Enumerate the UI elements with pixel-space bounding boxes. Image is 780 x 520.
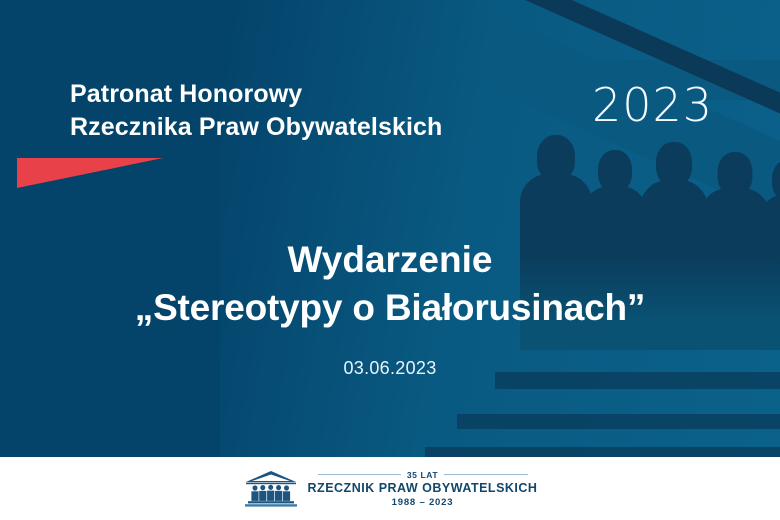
patronage-line-2: Rzecznika Praw Obywatelskich — [70, 111, 590, 144]
year-label: 2023 — [592, 78, 713, 132]
step-shape-3 — [425, 447, 780, 457]
banner: Patronat Honorowy Rzecznika Praw Obywate… — [0, 0, 780, 457]
event-date: 03.06.2023 — [0, 358, 780, 379]
patronage-heading: Patronat Honorowy Rzecznika Praw Obywate… — [70, 78, 590, 143]
event-title: Wydarzenie „Stereotypy o Białorusinach” — [0, 236, 780, 332]
organization-name: RZECZNIK PRAW OBYWATELSKICH — [308, 481, 538, 495]
rpo-temple-emblem-icon — [243, 469, 299, 509]
rule-left — [318, 474, 401, 475]
step-shape-2 — [457, 414, 780, 429]
red-accent-triangle — [17, 158, 163, 188]
event-title-line-1: Wydarzenie — [0, 236, 780, 284]
rule-right — [444, 474, 527, 475]
years-range: 1988 – 2023 — [392, 497, 454, 508]
anniversary-label: 35 LAT — [407, 470, 438, 480]
poster: Patronat Honorowy Rzecznika Praw Obywate… — [0, 0, 780, 520]
anniversary-row: 35 LAT — [318, 470, 528, 480]
patronage-line-1: Patronat Honorowy — [70, 78, 590, 111]
event-title-line-2: „Stereotypy o Białorusinach” — [0, 284, 780, 332]
rpo-logo: 35 LAT RZECZNIK PRAW OBYWATELSKICH 1988 … — [243, 469, 538, 509]
logo-text-block: 35 LAT RZECZNIK PRAW OBYWATELSKICH 1988 … — [308, 470, 538, 508]
footer: 35 LAT RZECZNIK PRAW OBYWATELSKICH 1988 … — [0, 457, 780, 520]
